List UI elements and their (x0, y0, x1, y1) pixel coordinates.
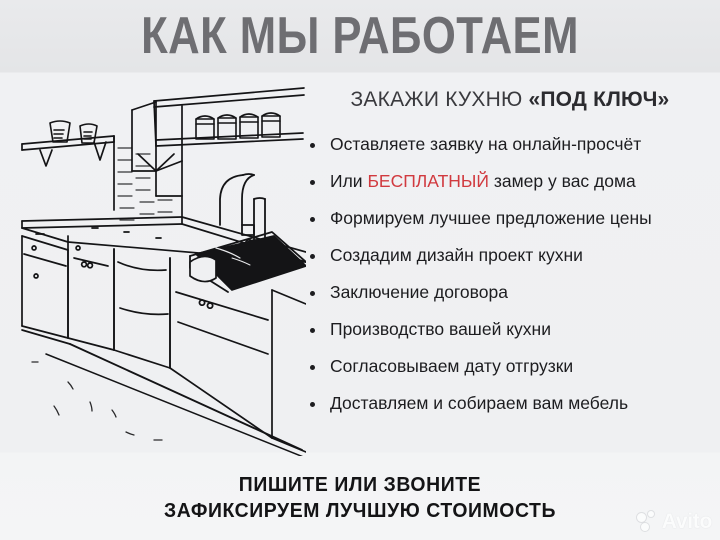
avito-logo-icon (637, 511, 659, 533)
bullet-icon (310, 126, 714, 163)
offer-subheading-plain: ЗАКАЖИ КУХНЮ (351, 88, 529, 111)
offer-subheading: ЗАКАЖИ КУХНЮ «ПОД КЛЮЧ» (308, 88, 712, 112)
steps-list: Оставляете заявку на онлайн-просчёт Или … (308, 126, 712, 422)
avito-watermark: Avito (637, 510, 712, 534)
list-item: Заключение договора (308, 274, 712, 311)
avito-wordmark: Avito (662, 510, 712, 534)
list-item: Оставляете заявку на онлайн-просчёт (308, 126, 712, 163)
upper-shelf (154, 88, 304, 146)
poster-canvas: КАК МЫ РАБОТАЕМ (0, 0, 720, 540)
list-item: Производство вашей кухни (308, 311, 712, 348)
bullet-icon (310, 237, 714, 274)
bullet-icon (310, 311, 714, 348)
floor (22, 330, 306, 456)
list-item: Или БЕСПЛАТНЫЙ замер у вас дома (308, 163, 712, 200)
kitchen-illustration (6, 76, 306, 456)
backsplash (118, 148, 172, 220)
bullet-icon (310, 348, 714, 385)
list-item: Согласовываем дату отгрузки (308, 348, 712, 385)
list-item: Создадим дизайн проект кухни (308, 237, 712, 274)
bullet-icon (310, 200, 714, 237)
bullet-icon (310, 385, 714, 422)
list-item: Формируем лучшее предложение цены (308, 200, 712, 237)
footer-callout: ПИШИТЕ ИЛИ ЗВОНИТЕ ЗАФИКСИРУЕМ ЛУЧШУЮ СТ… (0, 472, 720, 524)
bullet-icon (310, 274, 714, 311)
offer-subheading-bold: «ПОД КЛЮЧ» (528, 88, 669, 111)
bullet-icon (310, 163, 714, 200)
list-item: Доставляем и собираем вам мебель (308, 385, 712, 422)
offer-panel: ЗАКАЖИ КУХНЮ «ПОД КЛЮЧ» Оставляете заявк… (308, 88, 712, 422)
footer-line-1: ПИШИТЕ ИЛИ ЗВОНИТЕ (11, 472, 709, 498)
page-title: КАК МЫ РАБОТАЕМ (58, 4, 663, 68)
range-hood (132, 102, 182, 196)
footer-line-2: ЗАФИКСИРУЕМ ЛУЧШУЮ СТОИМОСТЬ (11, 498, 709, 524)
